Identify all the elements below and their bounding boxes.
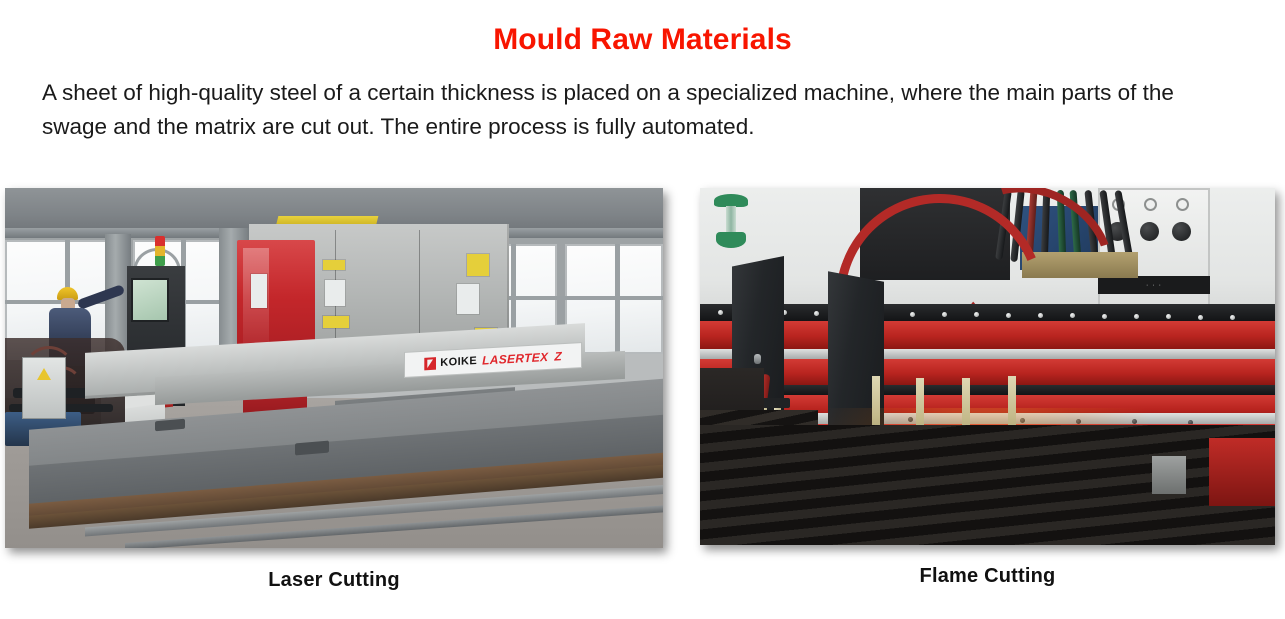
figure-laser-cutting: KOIKE LASERTEX Z Laser Cut	[5, 188, 663, 592]
rail-bolt	[1102, 314, 1107, 319]
wall-control-box	[23, 358, 65, 418]
valve-stem	[726, 206, 736, 234]
warning-triangle-icon	[37, 368, 51, 380]
model-name: LASERTEX	[482, 350, 548, 368]
panel-knob[interactable]	[1172, 222, 1191, 241]
rail-bolt	[1198, 315, 1203, 320]
machine-label	[457, 284, 479, 314]
rail-bolt	[910, 312, 915, 317]
series-name: Z	[554, 349, 561, 363]
rail-bolt	[942, 312, 947, 317]
hose	[1114, 190, 1132, 256]
gas-valve-assembly	[714, 194, 748, 246]
flame-cutting-scene: · · ·	[700, 188, 1275, 545]
machine-label	[251, 274, 267, 308]
caption-flame-cutting: Flame Cutting	[700, 565, 1275, 588]
rail-bolt	[1070, 313, 1075, 318]
page-title: Mould Raw Materials	[0, 23, 1285, 57]
console-screen	[133, 280, 167, 320]
warning-label	[323, 316, 349, 328]
intro-description: A sheet of high-quality steel of a certa…	[42, 76, 1202, 144]
warning-label	[323, 260, 345, 270]
machine-body-red	[1209, 438, 1275, 506]
rail-bolt	[1134, 314, 1139, 319]
panel-latch[interactable]	[754, 354, 761, 364]
brand-name: KOIKE	[440, 355, 477, 369]
gantry-rail-silver	[700, 349, 1275, 359]
valve-base	[716, 232, 746, 248]
warning-label	[467, 254, 489, 276]
figure-row: KOIKE LASERTEX Z Laser Cut	[0, 188, 1285, 608]
machine-label	[325, 280, 345, 306]
panel-indicator-icon	[1176, 198, 1189, 211]
rail-bolt	[1166, 314, 1171, 319]
rail-bolt	[1006, 313, 1011, 318]
rail-bolt	[814, 311, 819, 316]
rail-bolt	[974, 312, 979, 317]
flame-cutting-photo: · · ·	[700, 188, 1275, 545]
rail-bolt	[718, 310, 723, 315]
laser-cutting-scene: KOIKE LASERTEX Z	[5, 188, 663, 548]
caption-laser-cutting: Laser Cutting	[5, 569, 663, 592]
laser-cutting-photo: KOIKE LASERTEX Z	[5, 188, 663, 548]
gantry-rail-dark	[700, 385, 1275, 395]
koike-logo-icon	[424, 357, 436, 371]
figure-flame-cutting: · · ·	[700, 188, 1275, 588]
slat-table	[700, 425, 1275, 545]
gantry-rail-red	[700, 359, 1275, 385]
gantry-rail-red	[700, 321, 1275, 349]
rail-bolt	[1230, 315, 1235, 320]
rail-bolt	[1038, 313, 1043, 318]
panel-nameplate: · · ·	[1098, 276, 1210, 294]
stack-light	[155, 236, 165, 266]
equipment-box	[1152, 456, 1186, 494]
